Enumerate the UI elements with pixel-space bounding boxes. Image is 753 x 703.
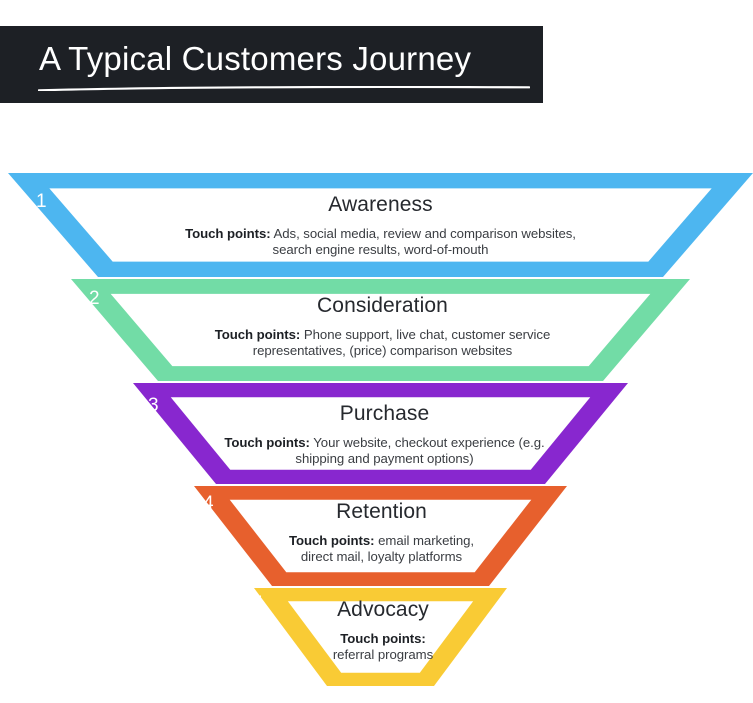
touch-points-label-2: Touch points: xyxy=(215,327,301,342)
stage-title-2: Consideration xyxy=(190,294,575,318)
stage-content-3: Purchase Touch points: Your website, che… xyxy=(222,402,547,467)
touch-points-text-5: referral programs xyxy=(333,647,433,662)
touch-points-text-3: Your website, checkout experience (e.g. … xyxy=(295,435,544,466)
touch-points-label-1: Touch points: xyxy=(185,226,271,241)
stage-touchpoints-3: Touch points: Your website, checkout exp… xyxy=(222,435,547,468)
stage-touchpoints-5: Touch points: referral programs xyxy=(309,631,457,664)
stage-content-1: Awareness Touch points: Ads, social medi… xyxy=(168,193,593,258)
stage-touchpoints-4: Touch points: email marketing, direct ma… xyxy=(279,533,484,566)
touch-points-label-4: Touch points: xyxy=(289,533,375,548)
stage-content-2: Consideration Touch points: Phone suppor… xyxy=(190,294,575,359)
stage-content-4: Retention Touch points: email marketing,… xyxy=(279,500,484,565)
stage-touchpoints-2: Touch points: Phone support, live chat, … xyxy=(190,327,575,360)
stage-title-3: Purchase xyxy=(222,402,547,426)
stage-title-4: Retention xyxy=(279,500,484,524)
funnel-diagram: 1 Awareness Touch points: Ads, social me… xyxy=(0,0,753,703)
stage-title-5: Advocacy xyxy=(309,598,457,622)
touch-points-label-3: Touch points: xyxy=(224,435,310,450)
stage-touchpoints-1: Touch points: Ads, social media, review … xyxy=(168,226,593,259)
touch-points-label-5: Touch points: xyxy=(340,631,426,646)
touch-points-text-1: Ads, social media, review and comparison… xyxy=(271,226,576,257)
stage-title-1: Awareness xyxy=(168,193,593,217)
stage-content-5: Advocacy Touch points: referral programs xyxy=(309,598,457,663)
